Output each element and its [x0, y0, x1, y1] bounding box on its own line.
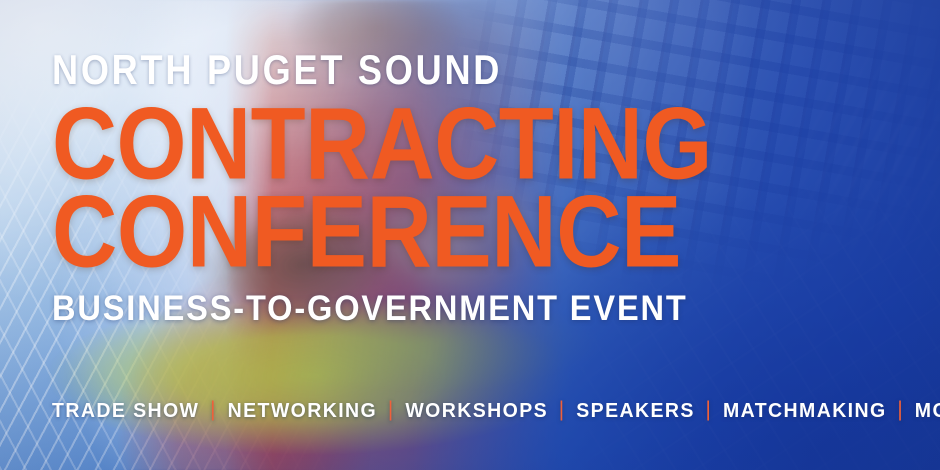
feature-item-trade-show: TRADE SHOW: [52, 401, 199, 421]
feature-item-workshops: WORKSHOPS: [405, 401, 548, 421]
eyebrow-text: NORTH PUGET SOUND: [52, 49, 502, 91]
feature-item-networking: NETWORKING: [228, 401, 378, 421]
subheadline-text: BUSINESS-TO-GOVERNMENT EVENT: [52, 291, 688, 326]
feature-separator: |: [210, 399, 217, 420]
feature-separator: |: [706, 399, 713, 420]
feature-item-more: MORE: [915, 401, 940, 421]
headline-line-2: CONFERENCE: [52, 187, 681, 277]
feature-separator: |: [897, 399, 904, 420]
feature-separator: |: [559, 399, 566, 420]
feature-list: TRADE SHOW|NETWORKING|WORKSHOPS|SPEAKERS…: [52, 400, 940, 421]
feature-separator: |: [388, 399, 395, 420]
event-banner: NORTH PUGET SOUND CONTRACTING CONFERENCE…: [0, 0, 940, 470]
banner-content: NORTH PUGET SOUND CONTRACTING CONFERENCE…: [0, 0, 940, 470]
feature-item-matchmaking: MATCHMAKING: [723, 401, 887, 421]
feature-item-speakers: SPEAKERS: [576, 401, 695, 421]
